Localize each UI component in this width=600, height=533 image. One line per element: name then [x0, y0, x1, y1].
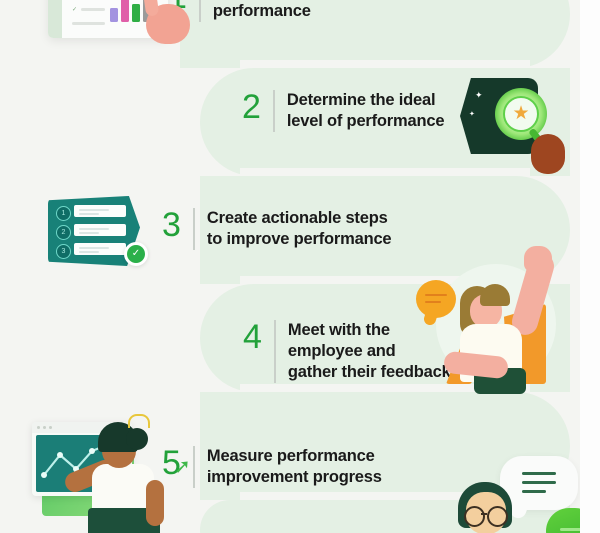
glasses-icon-right [487, 506, 508, 527]
step-row-2: 2 Determine the ideal level of performan… [242, 90, 444, 132]
step-text: Create actionable steps to improve perfo… [207, 208, 391, 250]
speech-bubble-icon [416, 280, 456, 318]
illustration-step-2: ✦ ✦ ★ [455, 76, 570, 176]
illustration-step-3: 1 2 3 ✓ [48, 196, 158, 271]
illustration-bottom-right [458, 452, 600, 533]
illustration-step-4 [408, 256, 568, 396]
glasses-icon-left [464, 506, 485, 527]
glasses-bridge [481, 513, 487, 515]
pointing-hand-icon [136, 0, 194, 44]
right-margin [580, 0, 600, 533]
infographic-canvas: ✓ ✓ ✦ ✦ ★ [0, 0, 600, 533]
illustration-step-5: ➚ [28, 408, 198, 533]
star-icon: ★ [511, 104, 531, 124]
step-number: 2 [242, 90, 273, 124]
step-number: 4 [243, 320, 274, 354]
hand-holding-magnifier [531, 134, 565, 174]
side-arm [146, 480, 164, 526]
hair-top [480, 284, 510, 306]
step-text: Measure performance improvement progress [207, 446, 382, 488]
check-badge-icon: ✓ [124, 242, 148, 266]
step-divider [274, 320, 276, 383]
hair-bow-icon [128, 414, 150, 428]
step-text: Clarify current performance [213, 0, 323, 22]
path-gap-1 [240, 60, 530, 68]
illustration-step-1: ✓ ✓ [40, 0, 200, 58]
step-divider [273, 90, 275, 132]
waving-hand-icon [524, 246, 552, 272]
up-arrow-icon: ➚ [174, 454, 191, 479]
torso [92, 464, 154, 512]
step-number: 3 [162, 208, 193, 242]
step-row-3: 3 Create actionable steps to improve per… [162, 208, 391, 250]
card-sidebar [48, 0, 62, 38]
hair-bun [126, 428, 148, 450]
white-speech-bubble-icon [500, 456, 578, 510]
step-text: Determine the ideal level of performance [287, 90, 444, 132]
step-divider [193, 208, 195, 250]
